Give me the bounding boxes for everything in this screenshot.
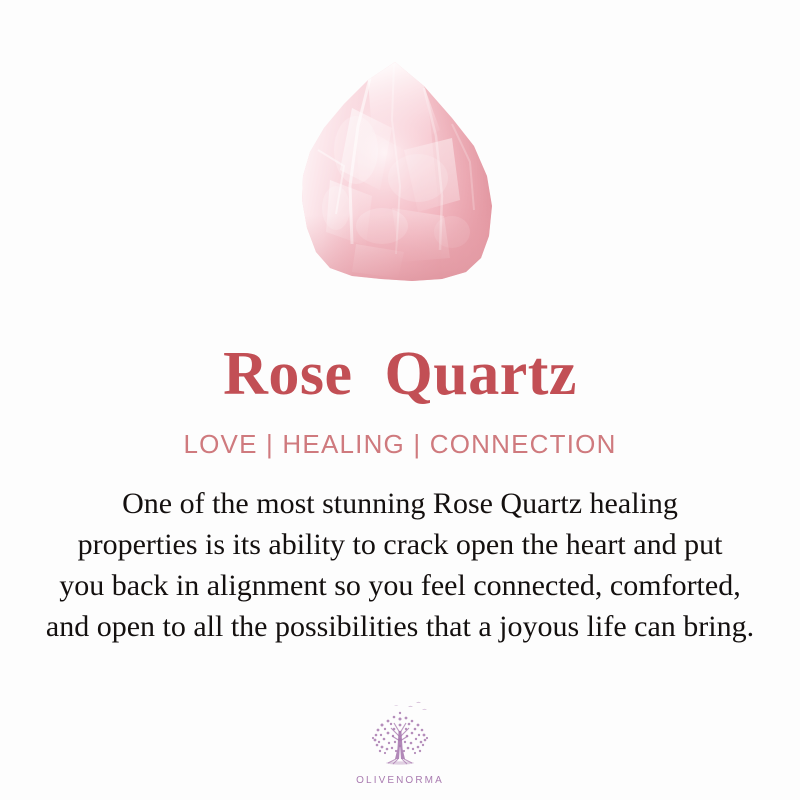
keyword-tagline: LOVE | HEALING | CONNECTION (183, 431, 616, 457)
tree-of-life-icon (358, 697, 442, 773)
rose-quartz-crystal-photo (0, 0, 800, 305)
page-title: Rose Quartz (223, 343, 577, 405)
description-text: One of the most stunning Rose Quartz hea… (30, 483, 770, 647)
crystal-image-area (0, 0, 800, 305)
brand-logo: OLIVENORMA (0, 697, 800, 786)
description-line: and open to all the possibilities that a… (30, 606, 770, 647)
description-line: One of the most stunning Rose Quartz hea… (30, 483, 770, 524)
description-line: you back in alignment so you feel connec… (30, 565, 770, 606)
description-line: properties is its ability to crack open … (30, 524, 770, 565)
brand-name: OLIVENORMA (356, 775, 444, 786)
rose-quartz-info-card: Rose Quartz LOVE | HEALING | CONNECTION … (0, 0, 800, 800)
